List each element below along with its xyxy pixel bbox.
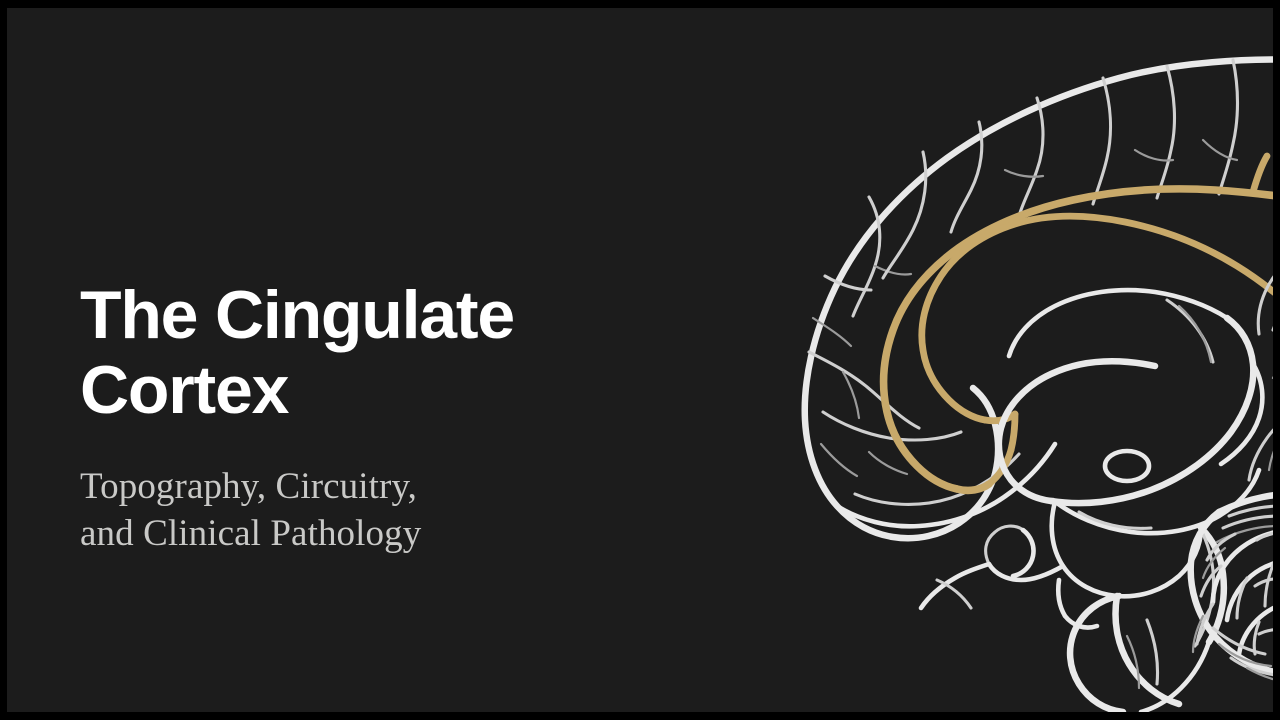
cortical-sulci-superior — [951, 60, 1273, 232]
cerebellum — [1191, 494, 1273, 684]
cingulate-gyrus-highlight — [884, 156, 1273, 490]
cortical-sulci-occipital — [1249, 250, 1273, 480]
midsagittal-brain-illustration — [607, 8, 1273, 712]
hypothalamus-optic-chiasm — [921, 526, 1097, 627]
cortical-sulci-frontal — [809, 152, 961, 476]
cerebral-cortex-outline — [805, 60, 1273, 539]
corpus-callosum — [999, 290, 1263, 503]
fornix-and-thalamus — [1052, 451, 1259, 596]
page-subtitle: Topography, Circuitry, and Clinical Path… — [80, 463, 640, 558]
page-title: The Cingulate Cortex — [80, 278, 640, 429]
slide-stage: The Cingulate Cortex Topography, Circuit… — [7, 8, 1273, 712]
title-text-block: The Cingulate Cortex Topography, Circuit… — [80, 278, 640, 558]
title-slide: The Cingulate Cortex Topography, Circuit… — [0, 0, 1280, 720]
fourth-ventricle — [1193, 604, 1213, 652]
brainstem — [1070, 528, 1224, 712]
massa-intermedia — [1105, 451, 1149, 481]
